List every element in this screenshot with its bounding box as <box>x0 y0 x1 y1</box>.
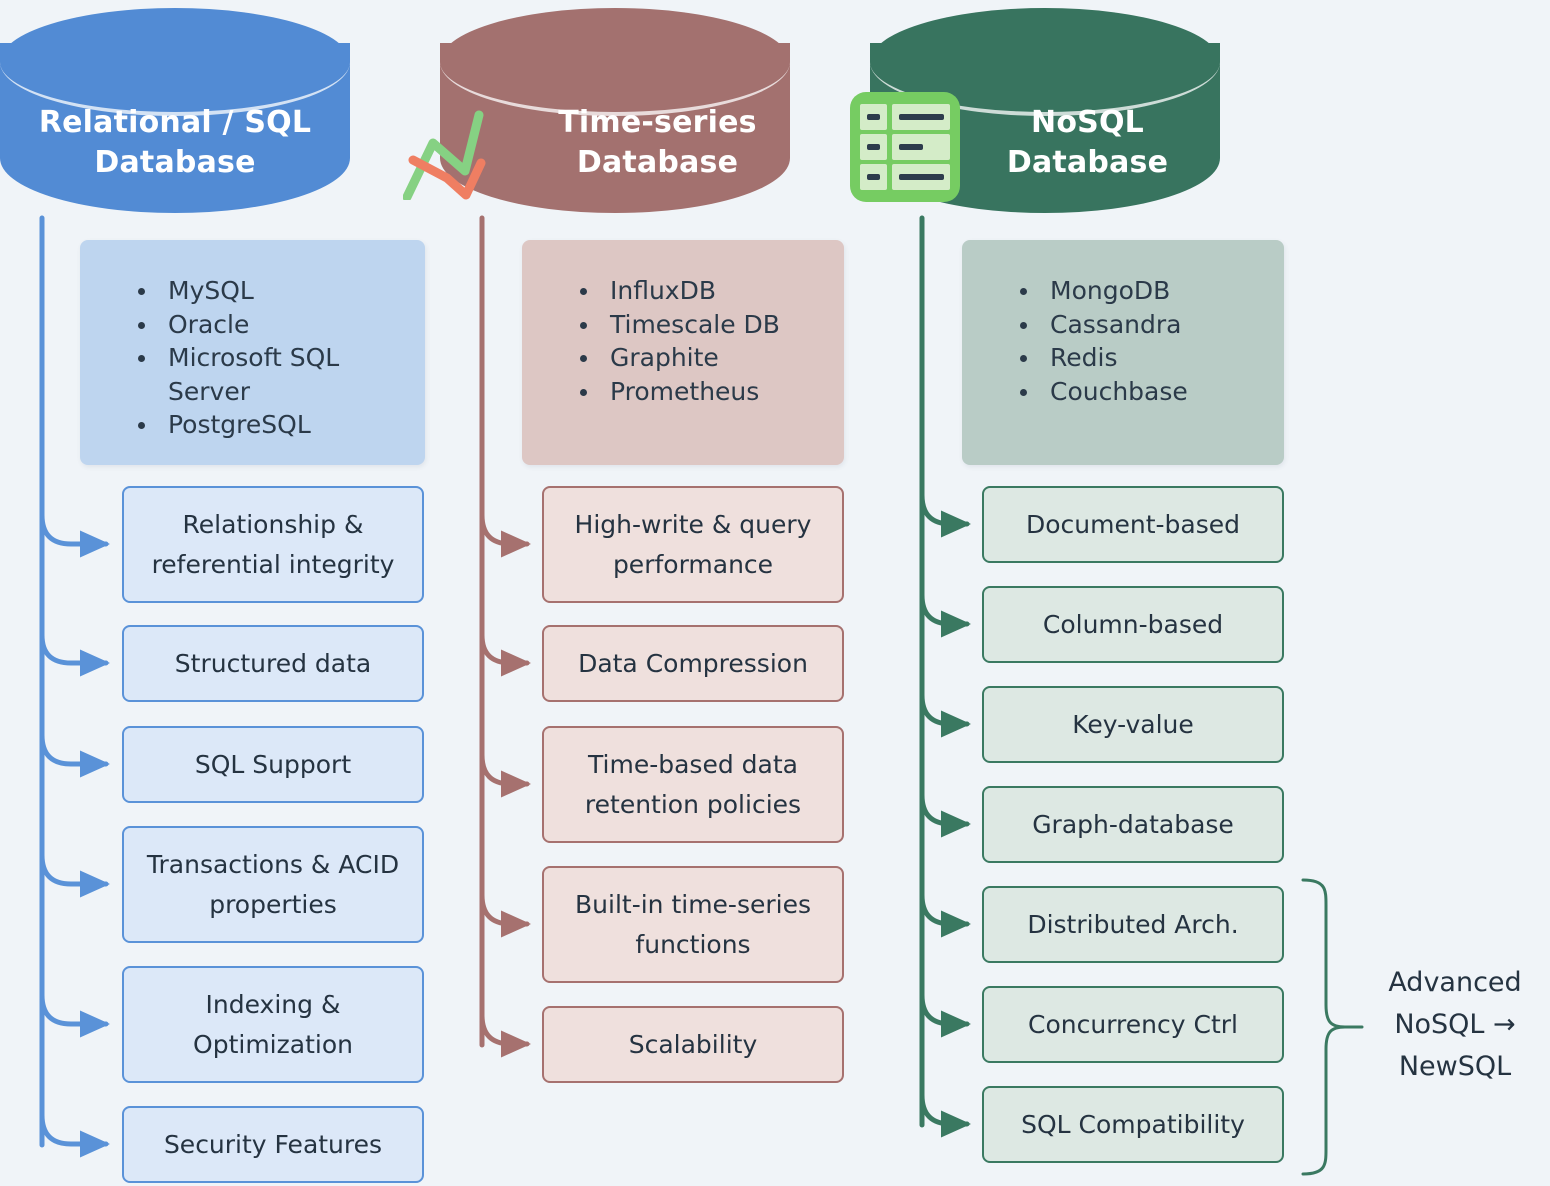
feature-box[interactable]: High-write & query performance <box>542 486 844 603</box>
list-item: Redis <box>1012 341 1284 375</box>
tech-list-nosql: MongoDB Cassandra Redis Couchbase <box>962 240 1284 465</box>
cylinder-relational-sql: Relational / SQL Database <box>0 8 350 213</box>
list-item: PostgreSQL <box>130 408 425 442</box>
feature-box[interactable]: Relationship & referential integrity <box>122 486 424 603</box>
brace-annotation-label: Advanced NoSQL → NewSQL <box>1370 962 1540 1088</box>
tech-list-relational: MySQL Oracle Microsoft SQL Server Postgr… <box>80 240 425 465</box>
list-item: Oracle <box>130 308 425 342</box>
list-item: InfluxDB <box>572 274 844 308</box>
icon-cell-small <box>860 134 887 160</box>
feature-box[interactable]: Structured data <box>122 625 424 702</box>
cylinder-title-nosql: NoSQL Database <box>955 103 1220 183</box>
feature-box[interactable]: Built-in time-series functions <box>542 866 844 983</box>
icon-cell-large <box>892 134 950 160</box>
title-line-1: NoSQL <box>955 103 1220 143</box>
title-line-2: Database <box>0 143 350 183</box>
brace-label-line-2: NoSQL → <box>1370 1004 1540 1046</box>
cylinder-top <box>440 8 790 116</box>
tech-list-timeseries: InfluxDB Timescale DB Graphite Prometheu… <box>522 240 844 465</box>
feature-box[interactable]: Key-value <box>982 686 1284 763</box>
title-line-1: Time-series <box>525 103 790 143</box>
feature-box[interactable]: Graph-database <box>982 786 1284 863</box>
cylinder-title-relational: Relational / SQL Database <box>0 103 350 183</box>
list-item: Couchbase <box>1012 375 1284 409</box>
title-line-2: Database <box>525 143 790 183</box>
title-line-1: Relational / SQL <box>0 103 350 143</box>
cylinder-title-timeseries: Time-series Database <box>525 103 790 183</box>
feature-box[interactable]: SQL Compatibility <box>982 1086 1284 1163</box>
brace-label-line-1: Advanced <box>1370 962 1540 1004</box>
feature-box[interactable]: Document-based <box>982 486 1284 563</box>
feature-box[interactable]: Scalability <box>542 1006 844 1083</box>
list-item: MongoDB <box>1012 274 1284 308</box>
list-item: MySQL <box>130 274 425 308</box>
diagram-canvas: Relational / SQL Database Time-series Da… <box>0 0 1550 1186</box>
list-item: Prometheus <box>572 375 844 409</box>
icon-row <box>860 134 950 160</box>
feature-box[interactable]: Distributed Arch. <box>982 886 1284 963</box>
icon-cell-large <box>892 164 950 190</box>
feature-box[interactable]: Concurrency Ctrl <box>982 986 1284 1063</box>
table-list-icon <box>850 92 960 202</box>
list-item: Cassandra <box>1012 308 1284 342</box>
list-item: Microsoft SQL Server <box>130 341 425 408</box>
line-chart-icon <box>403 105 533 200</box>
feature-box[interactable]: SQL Support <box>122 726 424 803</box>
list-item: Graphite <box>572 341 844 375</box>
feature-box[interactable]: Data Compression <box>542 625 844 702</box>
cylinder-top <box>0 8 350 116</box>
feature-box[interactable]: Transactions & ACID properties <box>122 826 424 943</box>
feature-box[interactable]: Time-based data retention policies <box>542 726 844 843</box>
feature-box[interactable]: Indexing & Optimization <box>122 966 424 1083</box>
icon-row <box>860 164 950 190</box>
icon-cell-small <box>860 164 887 190</box>
icon-cell-large <box>892 104 950 130</box>
list-item: Timescale DB <box>572 308 844 342</box>
icon-cell-small <box>860 104 887 130</box>
grouping-brace <box>1303 880 1362 1174</box>
brace-label-line-3: NewSQL <box>1370 1046 1540 1088</box>
feature-box[interactable]: Security Features <box>122 1106 424 1183</box>
feature-box[interactable]: Column-based <box>982 586 1284 663</box>
icon-row <box>860 104 950 130</box>
title-line-2: Database <box>955 143 1220 183</box>
